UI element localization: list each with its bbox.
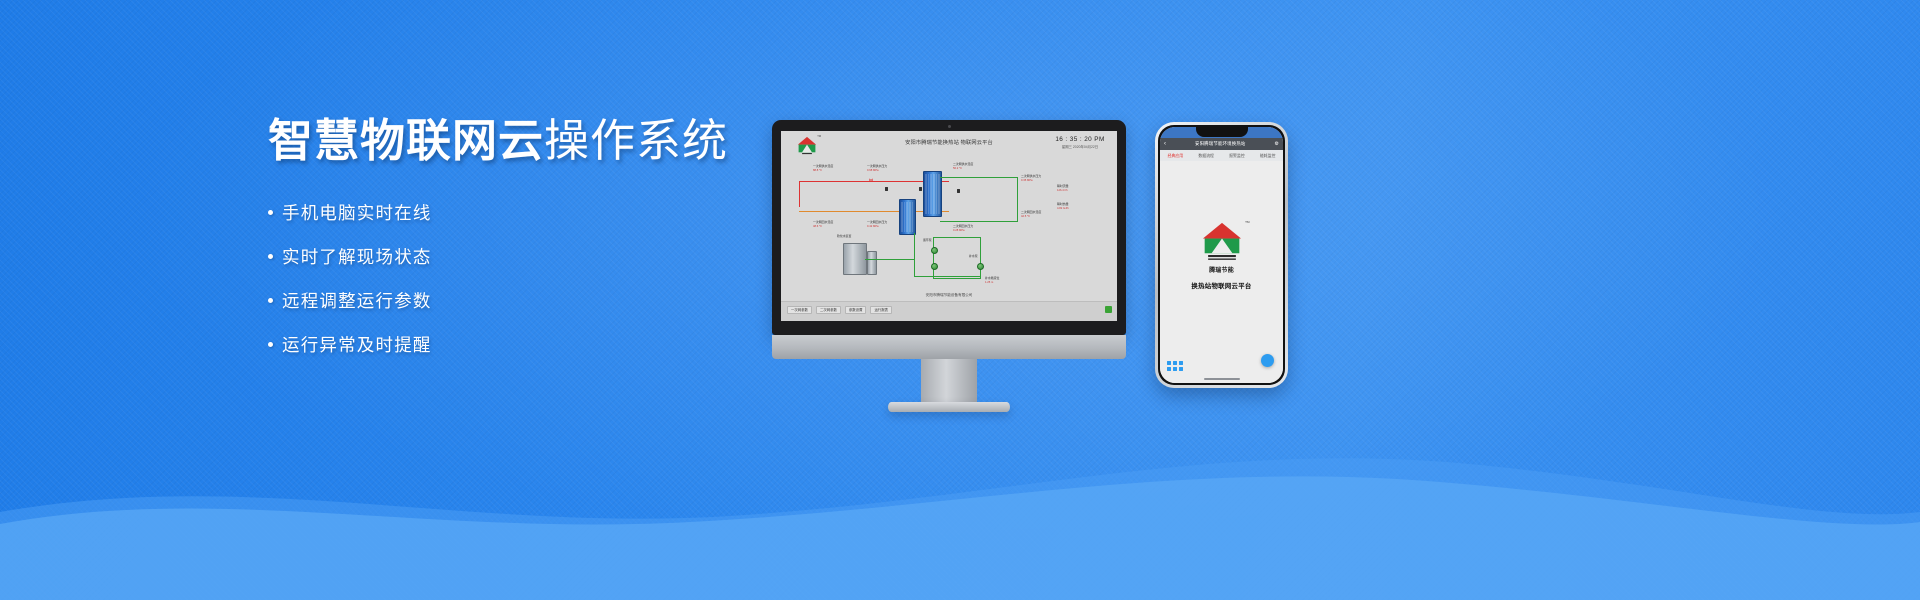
app-tile[interactable] — [1167, 367, 1171, 371]
headline-light: 操作系统 — [544, 115, 728, 166]
smartphone-mockup: ‹ 安阳腾瑞节能环境换热站 ⚙ 经典应用 数据流程 报警监控 能耗监控 — [1155, 122, 1288, 388]
phone-inner-bezel: ‹ 安阳腾瑞节能环境换热站 ⚙ 经典应用 数据流程 报警监控 能耗监控 — [1158, 125, 1285, 385]
feature-label: 手机电脑实时在线 — [282, 200, 432, 225]
platform-subtitle: 换热站物联网云平台 — [1160, 281, 1283, 290]
feature-label: 远程调整运行参数 — [282, 288, 432, 313]
makeup-pump — [977, 263, 984, 270]
status-indicator-icon — [1105, 306, 1112, 313]
scada-header: TM 安阳市腾瑞节能换热站 物联网云平台 16 : 35 : 20 PM 星期三… — [781, 131, 1117, 159]
company-logo: TM — [793, 135, 821, 157]
list-item: 运行异常及时提醒 — [268, 323, 738, 367]
primary-supply-riser — [799, 181, 800, 207]
hero-copy: 智慧物联网云操作系统 手机电脑实时在线 实时了解现场状态 远程调整运行参数 运行… — [268, 118, 738, 383]
app-tile[interactable] — [1173, 361, 1177, 365]
value-heat: 4.82 GJ/h — [1057, 207, 1069, 210]
value-sec-return-temp: 42.5 ℃ — [1021, 215, 1030, 218]
brine-tank — [867, 251, 877, 275]
webcam-icon — [948, 125, 951, 128]
scada-footer: 安阳市腾瑞节能设备有限公司 一次网参数 二次网参数 参数设置 运行报表 — [781, 301, 1117, 321]
secondary-return-pipe — [940, 221, 1018, 222]
circulation-pump-2 — [931, 263, 938, 270]
desktop-monitor-mockup: TM 安阳市腾瑞节能换热站 物联网云平台 16 : 35 : 20 PM 星期三… — [772, 120, 1126, 420]
monitor-chin — [772, 335, 1126, 359]
clock-widget: 16 : 35 : 20 PM 星期三 2020年04月22日 — [1051, 136, 1109, 149]
scada-title: 安阳市腾瑞节能换热站 物联网云平台 — [843, 139, 1055, 146]
phone-nav-bar: ‹ 安阳腾瑞节能环境换热站 ⚙ — [1160, 138, 1283, 150]
label-softener: 软化水装置 — [837, 235, 851, 239]
feature-label: 实时了解现场状态 — [282, 244, 432, 269]
bullet-dot-icon — [268, 342, 273, 347]
toolbar-button-settings[interactable]: 参数设置 — [845, 306, 867, 314]
value-makeup-tank: 1.25 m — [985, 281, 993, 284]
list-item: 实时了解现场状态 — [268, 235, 738, 279]
toolbar-button-primary-params[interactable]: 一次网参数 — [787, 306, 812, 314]
page-title: 智慧物联网云操作系统 — [268, 118, 738, 165]
phone-frame: ‹ 安阳腾瑞节能环境换热站 ⚙ 经典应用 数据流程 报警监控 能耗监控 — [1155, 122, 1288, 388]
bullet-dot-icon — [268, 298, 273, 303]
monitor-stand-base — [888, 402, 1010, 412]
tab-data-flow[interactable]: 数据流程 — [1198, 153, 1214, 159]
bullet-dot-icon — [268, 254, 273, 259]
gear-icon[interactable]: ⚙ — [1275, 141, 1279, 147]
phone-home-indicator — [1204, 378, 1240, 380]
phone-nav-title: 安阳腾瑞节能环境换热站 — [1166, 141, 1275, 147]
secondary-temp-sensor-icon — [957, 189, 960, 193]
trademark-label: TM — [1245, 220, 1249, 224]
bullet-dot-icon — [268, 210, 273, 215]
toolbar-button-report[interactable]: 运行报表 — [870, 306, 892, 314]
makeup-riser — [914, 233, 915, 277]
phone-notch — [1196, 127, 1248, 137]
value-return-temp: 48.6 ℃ — [813, 225, 822, 228]
monitor-bezel: TM 安阳市腾瑞节能换热站 物联网云平台 16 : 35 : 20 PM 星期三… — [772, 120, 1126, 335]
refresh-icon[interactable] — [1261, 354, 1274, 367]
label-circ-pump: 循环泵 — [923, 239, 932, 243]
tab-energy-monitor[interactable]: 能耗监控 — [1260, 153, 1276, 159]
list-item: 手机电脑实时在线 — [268, 191, 738, 235]
circulation-pump-1 — [931, 247, 938, 254]
monitor-stand-neck — [921, 359, 977, 404]
clock-time: 16 : 35 : 20 PM — [1051, 136, 1109, 143]
monitor-screen: TM 安阳市腾瑞节能换热站 物联网云平台 16 : 35 : 20 PM 星期三… — [781, 131, 1117, 321]
tab-classic-apps[interactable]: 经典应用 — [1168, 153, 1184, 159]
control-valve-icon — [869, 178, 873, 182]
softener-outlet-pipe — [865, 259, 914, 260]
brand-name: 腾瑞节能 — [1160, 265, 1283, 274]
tab-alarm-monitor[interactable]: 报警监控 — [1229, 153, 1245, 159]
headline-strong: 智慧物联网云 — [268, 115, 544, 166]
value-flow: 126.4 t/h — [1057, 189, 1067, 192]
value-sec-return-press: 0.28 MPa — [953, 229, 965, 232]
hero-banner: 智慧物联网云操作系统 手机电脑实时在线 实时了解现场状态 远程调整运行参数 运行… — [0, 0, 1920, 600]
value-return-press: 0.42 MPa — [867, 225, 879, 228]
app-tile[interactable] — [1167, 361, 1171, 365]
feature-list: 手机电脑实时在线 实时了解现场状态 远程调整运行参数 运行异常及时提醒 — [268, 191, 738, 367]
wave-front-decoration — [0, 450, 1920, 600]
value-sec-supply-press: 0.35 MPa — [1021, 179, 1033, 182]
value-sec-supply-temp: 56.2 ℃ — [953, 167, 962, 170]
company-logo: TM — [1196, 221, 1248, 263]
clock-date: 星期三 2020年04月22日 — [1051, 144, 1109, 149]
app-tile[interactable] — [1179, 367, 1183, 371]
value-supply-temp: 88.8 ℃ — [813, 169, 822, 172]
supply-temp-sensor-icon — [885, 187, 888, 191]
app-tile[interactable] — [1179, 361, 1183, 365]
softener-tank — [843, 243, 867, 275]
list-item: 远程调整运行参数 — [268, 279, 738, 323]
scada-diagram: 一次网供水温度 88.8 ℃ 一次网回水温度 48.6 ℃ 一次网供水压力 0.… — [781, 159, 1117, 301]
value-supply-press: 0.68 MPa — [867, 169, 879, 172]
secondary-supply-pipe — [940, 177, 1018, 178]
return-temp-sensor-icon — [919, 187, 922, 191]
heat-exchanger-2 — [899, 199, 916, 235]
feature-label: 运行异常及时提醒 — [282, 332, 432, 357]
label-makeup-pump: 补水泵 — [969, 255, 978, 259]
phone-content: TM 腾瑞节能 换热站物联网云平台 — [1160, 161, 1283, 383]
toolbar-button-secondary-params[interactable]: 二次网参数 — [816, 306, 841, 314]
scada-toolbar: 一次网参数 二次网参数 参数设置 运行报表 — [787, 306, 892, 314]
company-footnote: 安阳市腾瑞节能设备有限公司 — [781, 293, 1117, 298]
app-tile[interactable] — [1173, 367, 1177, 371]
secondary-supply-riser — [1017, 177, 1018, 221]
app-tiles[interactable] — [1167, 361, 1183, 371]
phone-screen: ‹ 安阳腾瑞节能环境换热站 ⚙ 经典应用 数据流程 报警监控 能耗监控 — [1160, 127, 1283, 383]
trademark-label: TM — [817, 135, 821, 138]
